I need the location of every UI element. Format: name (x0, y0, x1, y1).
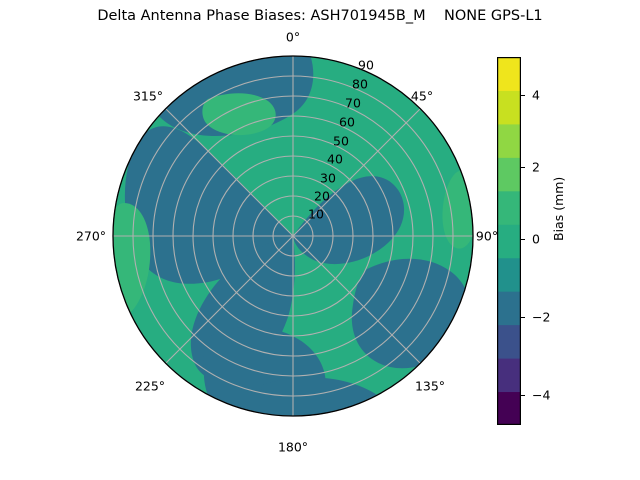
colorbar-tick-label: −4 (532, 388, 550, 403)
colorbar-band-2 (497, 325, 521, 359)
colorbar-tick-label: 0 (532, 232, 540, 247)
colorbar-tick-label: 2 (532, 160, 540, 175)
theta-tick-label-180: 180° (278, 440, 308, 455)
colorbar-tick-mark (521, 95, 525, 96)
colorbar-band-0 (497, 392, 521, 425)
r-tick-label-10: 10 (308, 207, 324, 222)
colorbar-tick-mark (521, 167, 525, 168)
r-tick-label-90: 90 (358, 58, 374, 73)
colorbar-tick-mark (521, 317, 525, 318)
r-tick-label-70: 70 (345, 96, 361, 111)
colorbar-band-10 (497, 57, 521, 91)
colorbar-band-4 (497, 258, 521, 292)
colorbar-axis-label: Bias (mm) (551, 177, 566, 241)
colorbar-band-5 (497, 224, 521, 258)
colorbar-tick-mark (521, 239, 525, 240)
colorbar[interactable] (497, 57, 521, 425)
colorbar-band-7 (497, 157, 521, 191)
theta-tick-label-135: 135° (415, 379, 445, 394)
colorbar-band-3 (497, 291, 521, 325)
colorbar-tick-mark (521, 395, 525, 396)
colorbar-bands (497, 57, 521, 425)
theta-tick-label-225: 225° (135, 379, 165, 394)
colorbar-band-8 (497, 124, 521, 158)
polar-plot-svg[interactable] (112, 55, 474, 417)
theta-tick-label-0: 0° (286, 30, 300, 45)
colorbar-gradient[interactable] (497, 57, 521, 425)
colorbar-tick-label: 4 (532, 88, 540, 103)
colorbar-band-6 (497, 191, 521, 225)
r-tick-label-60: 60 (339, 115, 355, 130)
theta-tick-label-270: 270° (76, 229, 106, 244)
colorbar-tick-label: −2 (532, 310, 550, 325)
r-tick-label-30: 30 (320, 171, 336, 186)
theta-tick-label-315: 315° (133, 89, 163, 104)
colorbar-band-9 (497, 90, 521, 124)
r-tick-label-80: 80 (352, 77, 368, 92)
polar-axes[interactable]: 0°45°90°135°180°225°270°315° 10203040506… (112, 55, 474, 417)
chart-title: Delta Antenna Phase Biases: ASH701945B_M… (0, 8, 640, 24)
theta-tick-label-45: 45° (411, 89, 433, 104)
r-tick-label-50: 50 (333, 134, 349, 149)
theta-tick-label-90: 90° (476, 229, 498, 244)
r-tick-label-40: 40 (327, 152, 343, 167)
figure-canvas: Delta Antenna Phase Biases: ASH701945B_M… (0, 0, 640, 480)
angular-gridlines (113, 56, 473, 416)
colorbar-band-1 (497, 358, 521, 392)
r-tick-label-20: 20 (314, 189, 330, 204)
